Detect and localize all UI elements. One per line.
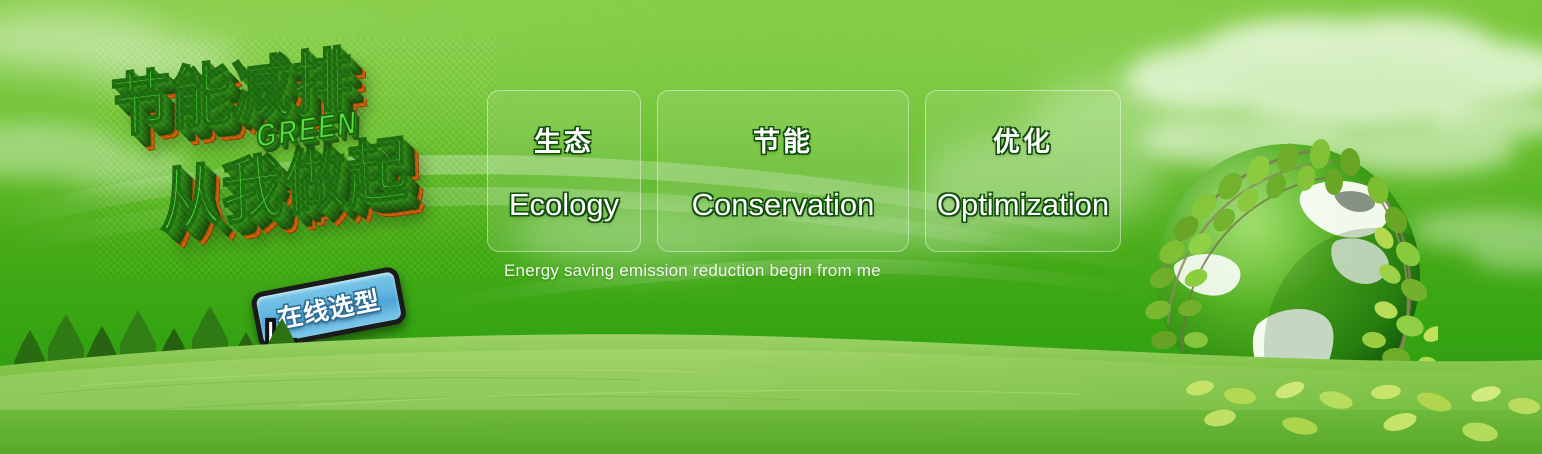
feature-card-list: 生态 Ecology 节能 Conservation 优化 Optimizati…: [487, 90, 1121, 252]
feature-card-label-cn: 生态: [534, 120, 594, 159]
online-selection-cta[interactable]: 在线选型: [250, 263, 421, 364]
feature-card-conservation[interactable]: 节能 Conservation: [657, 90, 909, 252]
cta-button-label: 在线选型: [274, 280, 383, 335]
feature-card-label-cn: 节能: [753, 120, 813, 159]
headline-line-top: 节能减排: [110, 24, 354, 152]
feature-card-label-en: Conservation: [692, 187, 875, 223]
cta-button[interactable]: 在线选型: [250, 265, 408, 351]
banner-tagline: Energy saving emission reduction begin f…: [504, 261, 881, 281]
feature-card-label-cn: 优化: [993, 120, 1053, 159]
eco-hero-banner: 节能减排 从我做起 GREEN 在线选型 生态 Ecology 节能 Conse…: [0, 0, 1542, 454]
headline-green-word: GREEN: [256, 103, 359, 157]
ivy-leaves: [1143, 138, 1438, 428]
feature-card-label-en: Optimization: [937, 187, 1109, 223]
headline-texture-overlay: [96, 38, 496, 278]
ivy-globe-icon: [1138, 128, 1438, 428]
ivy-vines: [1160, 150, 1410, 422]
conifer-tree-icon: [0, 304, 1542, 414]
headline-3d-artwork: 节能减排 从我做起 GREEN: [96, 38, 496, 278]
feature-card-optimization[interactable]: 优化 Optimization: [925, 90, 1121, 252]
headline-line-bottom: 从我做起: [157, 111, 410, 247]
grass-field-icon: [0, 314, 1542, 454]
feature-card-ecology[interactable]: 生态 Ecology: [487, 90, 641, 252]
feature-card-label-en: Ecology: [509, 187, 619, 223]
